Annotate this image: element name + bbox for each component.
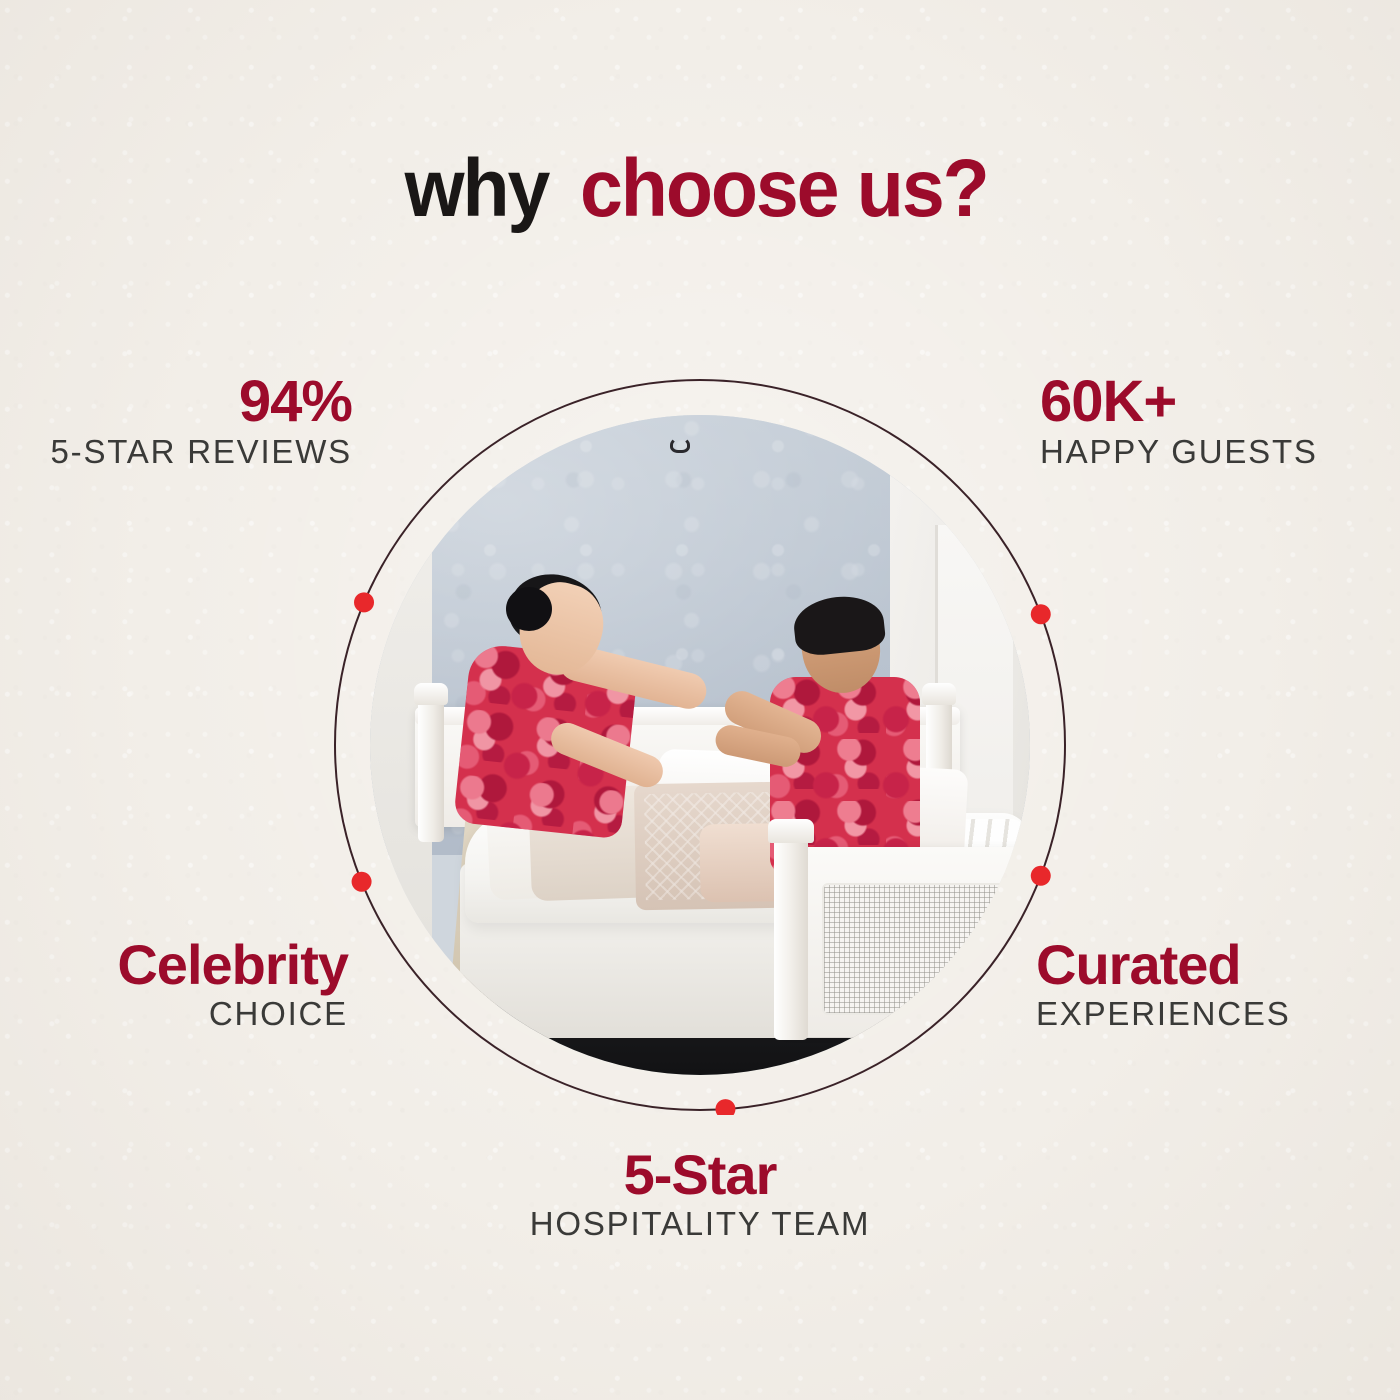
stat-celebrity-choice: Celebrity CHOICE xyxy=(0,936,348,1034)
dot-top-right xyxy=(1031,604,1051,624)
dot-bottom xyxy=(715,1099,735,1115)
stat-curated-experiences: Curated EXPERIENCES xyxy=(1036,936,1400,1034)
stat-hospitality-team: 5-Star HOSPITALITY TEAM xyxy=(0,1146,1400,1244)
dot-top-left xyxy=(354,592,374,612)
stat-label-celebrity: CHOICE xyxy=(0,993,348,1034)
circle-ring xyxy=(330,375,1070,1115)
stat-value-hospitality: 5-Star xyxy=(0,1146,1400,1203)
title-phrase-choose-us: choose us? xyxy=(580,148,988,230)
stat-value-guests: 60K+ xyxy=(1040,372,1400,431)
ring-outline xyxy=(335,380,1065,1110)
stat-label-curated: EXPERIENCES xyxy=(1036,993,1400,1034)
ring-dot-group xyxy=(352,592,1051,1115)
stat-label-guests: HAPPY GUESTS xyxy=(1040,431,1400,472)
dot-bottom-left xyxy=(352,872,372,892)
title-word-why: why xyxy=(404,148,548,230)
stat-label-reviews: 5-STAR REVIEWS xyxy=(0,431,352,472)
stat-value-celebrity: Celebrity xyxy=(0,936,348,993)
stat-label-hospitality: HOSPITALITY TEAM xyxy=(0,1203,1400,1244)
center-circle-stage xyxy=(330,375,1070,1115)
stat-happy-guests: 60K+ HAPPY GUESTS xyxy=(1040,372,1400,472)
stat-value-reviews: 94% xyxy=(0,372,352,431)
stat-value-curated: Curated xyxy=(1036,936,1400,993)
page-title: whychoose us? xyxy=(0,148,1400,230)
dot-bottom-right xyxy=(1031,866,1051,886)
stat-5-star-reviews: 94% 5-STAR REVIEWS xyxy=(0,372,352,472)
